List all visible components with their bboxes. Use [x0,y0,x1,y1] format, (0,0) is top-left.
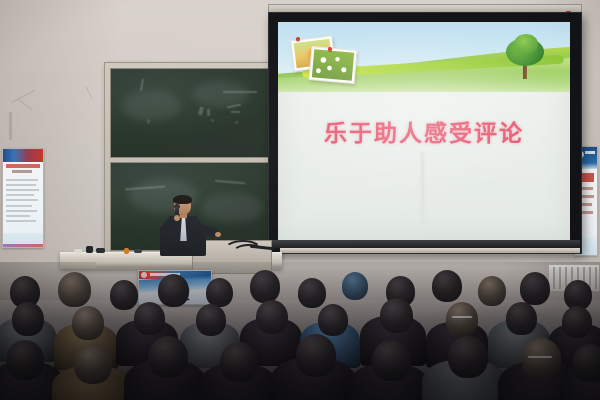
audience-head [6,340,44,380]
audience-head [296,334,336,377]
desk-object-orange [124,248,129,254]
slide-photo-daisy [309,46,358,84]
chalk-dot [147,119,150,124]
audience-head [372,340,411,381]
pin-icon [328,47,332,51]
poster-subtitle-bar [12,170,32,173]
desk-object-dark [86,246,93,253]
audience-head [478,276,506,306]
audience-head [158,274,189,307]
presenter-hair [173,195,192,204]
audience-head [206,278,233,307]
classroom-photo-scene: 乐于助人感受评论 讲堂 [0,0,600,400]
screen-bottom-weight-bar [268,240,580,248]
poster-text-line [6,205,32,207]
desk-object-dark [134,249,142,253]
poster-text-line [6,210,37,212]
audience-head [562,306,592,338]
chalk-writing [140,79,144,91]
poster-text-line [6,184,36,186]
tree-icon [502,38,548,82]
poster-header-band [3,149,43,162]
audience-head [432,270,462,302]
audience-head [318,304,348,336]
slide-faint-mark [421,152,424,224]
poster-text-line [6,179,38,181]
wall-rail-right [280,248,580,253]
wall-scuff-mark [9,112,12,140]
chalk-writing [207,109,210,116]
chalk-dot [235,121,238,124]
audience-head [448,336,488,378]
audience-head [520,272,550,305]
poster-text-line [6,215,30,217]
audience-head [572,344,600,382]
chalk-smudge [121,91,181,121]
chalk-writing [231,111,240,113]
pin-icon [296,37,300,41]
tree-crown-highlight [514,34,538,54]
chalk-writing [223,91,257,93]
poster-text-line [6,189,39,191]
presenter [152,196,214,258]
poster-text-line [6,220,36,222]
poster-text-line [6,199,38,201]
audience-head [256,300,288,334]
audience-head [12,302,44,336]
desk-object-light [74,249,82,253]
audience-head-with-glasses [522,338,561,379]
audience-head [134,302,165,335]
audience-head [74,344,112,384]
audience-head [196,304,226,336]
audience-head [506,302,537,335]
poster-bottom-edge [3,244,43,247]
audience-head [110,280,138,310]
audience-head [380,298,413,333]
poster-text-line [6,194,34,196]
chalk-writing [198,107,204,116]
poster-title-bar [6,164,40,168]
audience-head [72,306,104,340]
audience-head [298,278,326,308]
audience-head [220,342,258,382]
glasses-icon [452,316,472,318]
audience-head [250,270,280,303]
daisy-field-image [312,49,354,80]
presenter-mic-hand [174,215,180,221]
chalk-dot [211,119,214,122]
chalk-writing [215,180,245,185]
projection-screen: 乐于助人感受评论 [278,22,570,240]
glasses-icon [528,356,552,358]
desk-object-dark [96,248,105,253]
left-wall-poster [2,148,44,248]
audience-head [342,272,368,300]
slide-title: 乐于助人感受评论 [278,114,570,148]
audience-head-with-glasses [446,302,478,336]
audience-head [148,336,188,378]
sign-header-text-bar [585,151,595,154]
presenter-right-hand [215,232,221,237]
audience-area [0,262,600,400]
audience-head [58,272,91,307]
blackboard-panel-upper [110,68,276,158]
